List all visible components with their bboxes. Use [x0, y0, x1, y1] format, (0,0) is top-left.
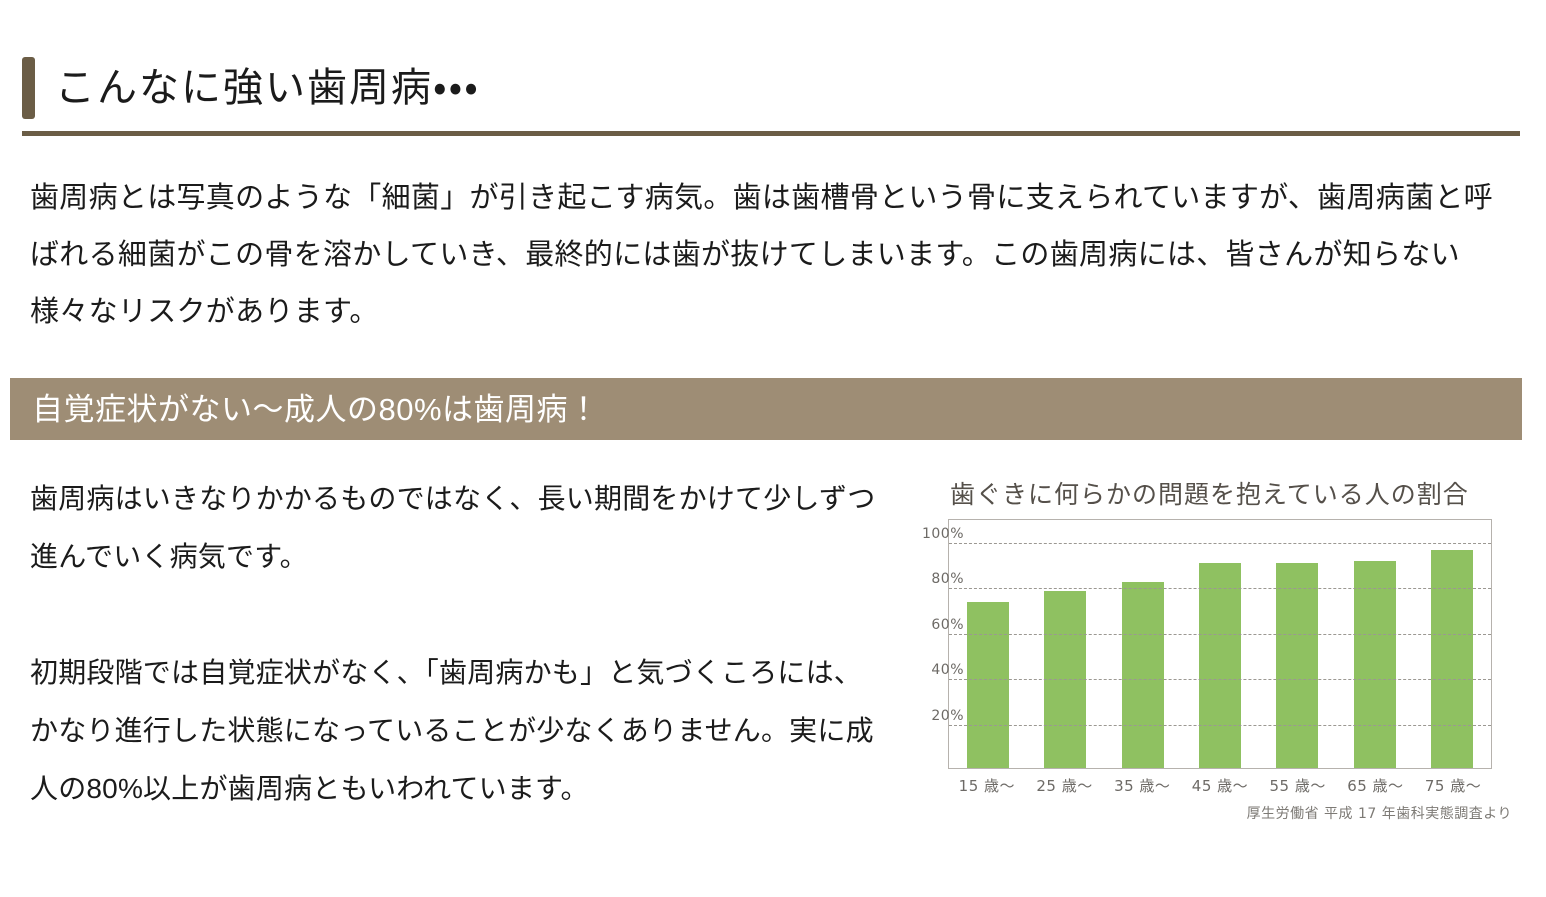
chart-plot-area: [948, 519, 1492, 769]
chart-x-tick-label: 55 歳〜: [1259, 775, 1337, 796]
page-title-row: こんなに強い歯周病・・・: [22, 57, 480, 119]
chart-bar: [1354, 561, 1396, 768]
chart-x-axis: 15 歳〜25 歳〜35 歳〜45 歳〜55 歳〜65 歳〜75 歳〜: [948, 775, 1492, 796]
chart-bar: [1431, 550, 1473, 768]
body-paragraph-1: 歯周病はいきなりかかるものではなく、長い期間をかけて少しずつ進んでいく病気です。: [30, 470, 890, 586]
chart-x-tick-label: 45 歳〜: [1181, 775, 1259, 796]
chart-bar-slot: [1414, 520, 1491, 768]
chart-x-tick-label: 35 歳〜: [1103, 775, 1181, 796]
chart-bar-slot: [1026, 520, 1103, 768]
lower-content: 歯周病はいきなりかかるものではなく、長い期間をかけて少しずつ進んでいく病気です。…: [0, 470, 1546, 890]
chart-title: 歯ぐきに何らかの問題を抱えている人の割合: [950, 475, 1469, 511]
chart-bar-slot: [1259, 520, 1336, 768]
chart-bars: [949, 520, 1491, 768]
chart-y-tick-label: 80%: [931, 571, 964, 587]
chart-bar: [967, 602, 1009, 768]
chart-source-note: 厚生労働省 平成 17 年歯科実態調査より: [1247, 803, 1512, 823]
chart-gridline: [949, 588, 1491, 589]
chart-gridline: [949, 725, 1491, 726]
page-title: こんなに強い歯周病・・・: [55, 68, 480, 108]
chart-bar: [1199, 563, 1241, 768]
chart-gridline: [949, 634, 1491, 635]
chart-bar-slot: [1104, 520, 1181, 768]
chart-bar: [1276, 563, 1318, 768]
chart-y-tick-label: 40%: [931, 662, 964, 678]
chart-bar-slot: [1181, 520, 1258, 768]
header-divider: [22, 131, 1520, 136]
section-band: 自覚症状がない〜成人の80%は歯周病！: [10, 378, 1522, 440]
chart-bar-slot: [1336, 520, 1413, 768]
page-header: こんなに強い歯周病・・・: [0, 0, 1546, 140]
chart-gridline: [949, 543, 1491, 544]
chart-x-tick-label: 65 歳〜: [1337, 775, 1415, 796]
chart-figure: 歯ぐきに何らかの問題を抱えている人の割合 20%40%60%80%100% 15…: [900, 475, 1520, 815]
chart-gridline: [949, 679, 1491, 680]
chart-x-tick-label: 25 歳〜: [1026, 775, 1104, 796]
title-accent-bar-icon: [22, 57, 35, 119]
chart-bar-slot: [949, 520, 1026, 768]
chart-x-tick-label: 75 歳〜: [1414, 775, 1492, 796]
chart-bar: [1122, 582, 1164, 768]
chart-x-tick-label: 15 歳〜: [948, 775, 1026, 796]
intro-paragraph: 歯周病とは写真のような「細菌」が引き起こす病気。歯は歯槽骨という骨に支えられてい…: [30, 170, 1498, 341]
body-text-column: 歯周病はいきなりかかるものではなく、長い期間をかけて少しずつ進んでいく病気です。…: [30, 470, 890, 818]
chart-y-tick-label: 60%: [931, 617, 964, 633]
chart-y-tick-label: 20%: [931, 708, 964, 724]
section-band-title: 自覚症状がない〜成人の80%は歯周病！: [10, 394, 600, 425]
chart-y-tick-label: 100%: [922, 526, 964, 542]
body-paragraph-2: 初期段階では自覚症状がなく、「歯周病かも」と気づくころには、かなり進行した状態に…: [30, 644, 890, 818]
